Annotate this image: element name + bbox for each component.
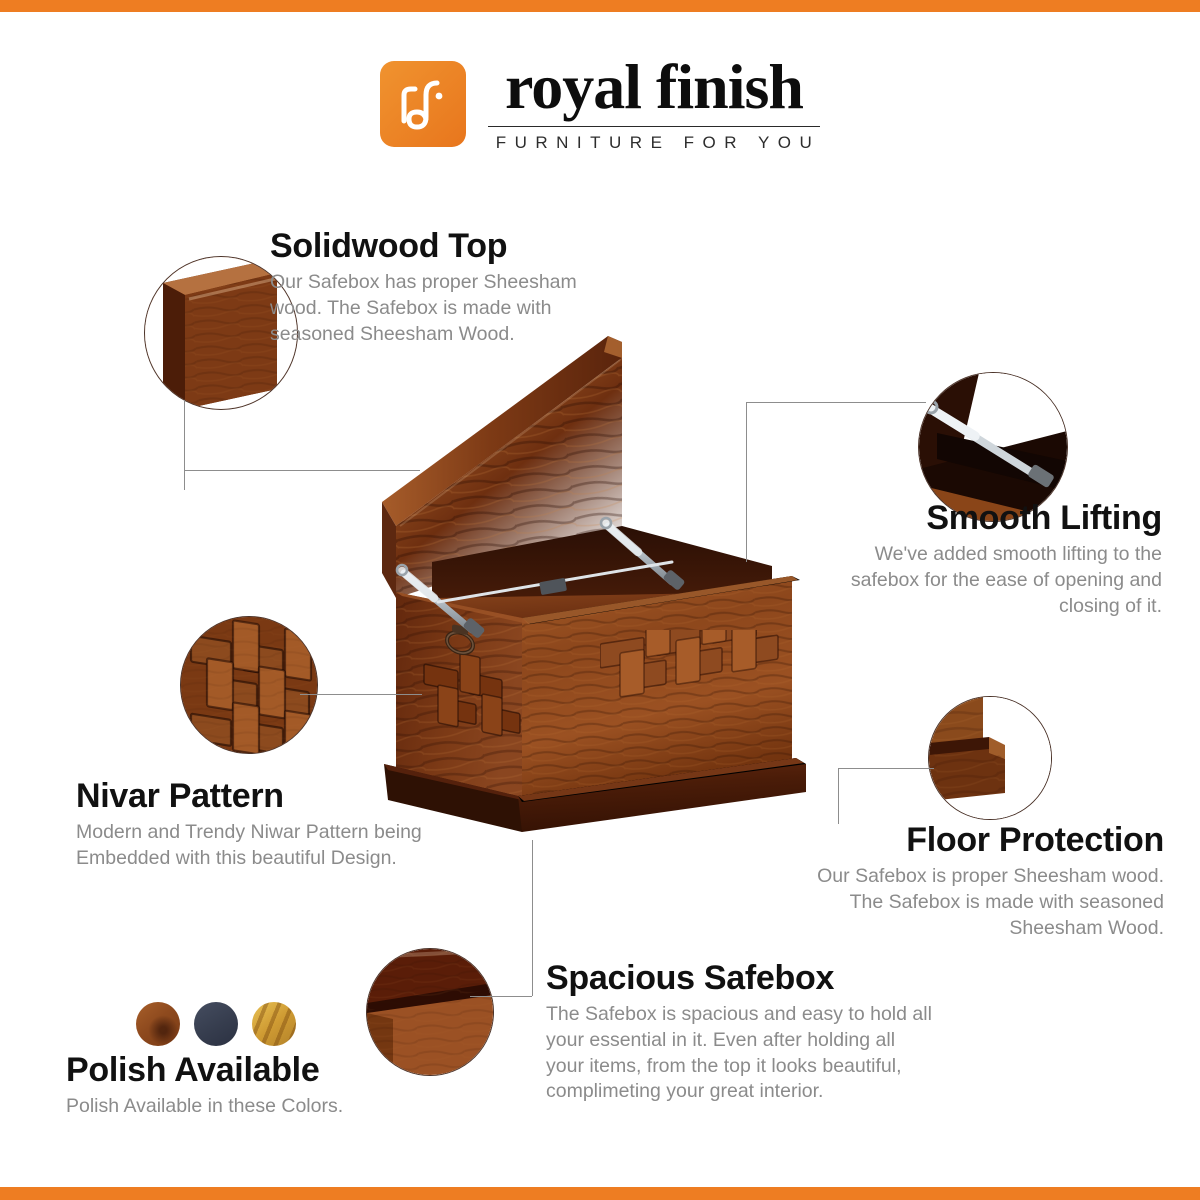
- connector-spacious-h: [470, 996, 532, 997]
- feature-heading: Spacious Safebox: [546, 960, 938, 996]
- feature-heading: Solidwood Top: [270, 228, 610, 264]
- feature-polish-available: Polish Available Polish Available in the…: [66, 1052, 406, 1120]
- feature-body: The Safebox is spacious and easy to hold…: [546, 1002, 938, 1105]
- feature-heading: Polish Available: [66, 1052, 406, 1088]
- feature-body: Modern and Trendy Niwar Pattern being Em…: [76, 820, 428, 871]
- connector-floor-v: [838, 768, 839, 824]
- brand-name: royal finish: [505, 55, 803, 119]
- polish-swatch-golden-oak[interactable]: [252, 1002, 296, 1046]
- polish-swatch-dark-slate[interactable]: [194, 1002, 238, 1046]
- connector-lifting-h: [746, 402, 926, 403]
- feature-nivar-pattern: Nivar Pattern Modern and Trendy Niwar Pa…: [76, 778, 428, 872]
- brand-divider: [488, 126, 821, 127]
- feature-body: Polish Available in these Colors.: [66, 1094, 406, 1120]
- bottom-accent-bar: [0, 1187, 1200, 1200]
- feature-heading: Floor Protection: [796, 822, 1164, 858]
- rf-monogram-icon: [380, 61, 466, 147]
- connector-solidwood-h: [184, 470, 420, 471]
- feature-floor-protection: Floor Protection Our Safebox is proper S…: [796, 822, 1164, 941]
- connector-solidwood-v: [184, 400, 185, 490]
- polish-swatch-honey-walnut[interactable]: [136, 1002, 180, 1046]
- thumb-nivar-pattern: [180, 616, 318, 754]
- brand-header: royal finish FURNITURE FOR YOU: [0, 55, 1200, 153]
- feature-heading: Smooth Lifting: [806, 500, 1162, 536]
- feature-body: Our Safebox is proper Sheesham wood. The…: [796, 864, 1164, 941]
- polish-swatch-group: [136, 1002, 296, 1046]
- product-image: [372, 330, 872, 850]
- feature-body: We've added smooth lifting to the safebo…: [806, 542, 1162, 619]
- feature-smooth-lifting: Smooth Lifting We've added smooth liftin…: [806, 500, 1162, 619]
- connector-floor-h: [838, 768, 934, 769]
- brand-tagline: FURNITURE FOR YOU: [488, 133, 821, 153]
- connector-lifting-v: [746, 402, 747, 562]
- feature-heading: Nivar Pattern: [76, 778, 428, 814]
- feature-body: Our Safebox has proper Sheesham wood. Th…: [270, 270, 610, 347]
- feature-spacious-safebox: Spacious Safebox The Safebox is spacious…: [546, 960, 938, 1105]
- infographic-page: royal finish FURNITURE FOR YOU: [0, 0, 1200, 1200]
- thumb-floor-protection: [928, 696, 1052, 820]
- feature-solidwood-top: Solidwood Top Our Safebox has proper She…: [270, 228, 610, 347]
- connector-nivar-h: [300, 694, 422, 695]
- top-accent-bar: [0, 0, 1200, 12]
- connector-spacious-v: [532, 840, 533, 996]
